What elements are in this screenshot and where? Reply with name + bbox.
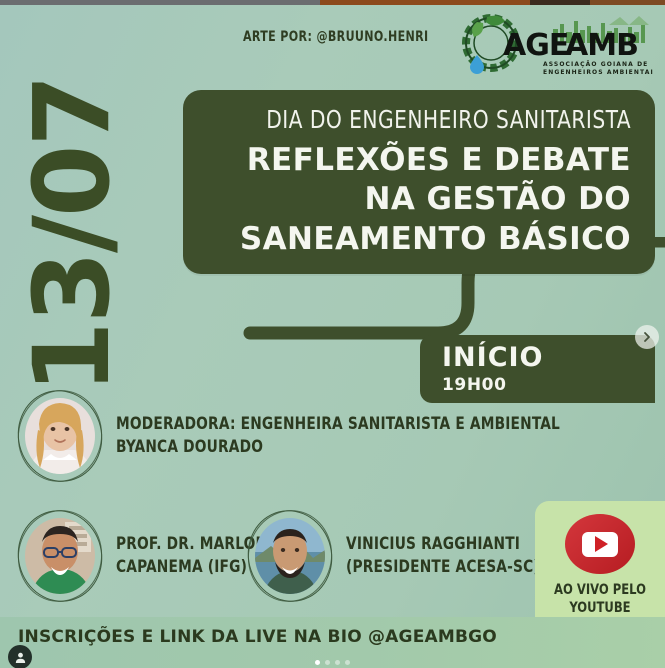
moderator-name-block: MODERADORA: ENGENHEIRA SANITARISTA E AMB… — [116, 413, 560, 459]
carousel-dot-2[interactable] — [325, 660, 330, 665]
speaker-2-photo — [255, 518, 325, 594]
speaker-1-line-2: CAPANEMA (IFG) — [116, 556, 267, 579]
headline-kicker: DIA DO ENGENHEIRO SANITARISTA — [249, 106, 631, 135]
person-icon — [14, 651, 27, 664]
carousel-dot-3[interactable] — [335, 660, 340, 665]
youtube-label: AO VIVO PELO YOUTUBE — [554, 582, 646, 617]
headline-line-1: REFLEXÕES E DEBATE — [207, 141, 631, 181]
carousel-dots — [0, 660, 665, 665]
speaker-2-name-block: VINICIUS RAGGHIANTI (PRESIDENTE ACESA-SC… — [346, 533, 540, 579]
svg-text:ENGENHEIROS AMBIENTAIS.: ENGENHEIROS AMBIENTAIS. — [543, 69, 653, 76]
browser-chrome-strip — [0, 0, 665, 5]
youtube-icon — [565, 514, 635, 574]
speaker-row-1: PROF. DR. MARLON CAPANEMA (IFG) — [18, 510, 284, 602]
headline-line-3: SANEAMENTO BÁSICO — [207, 220, 631, 260]
svg-text:AGE: AGE — [503, 28, 568, 63]
art-credit: ARTE POR: @BRUUNO.HENRI — [243, 29, 429, 45]
chrome-segment-image-a — [320, 0, 530, 5]
caption-text: INSCRIÇÕES E LINK DA LIVE NA BIO @AGEAMB… — [18, 627, 497, 647]
chevron-right-icon — [641, 331, 653, 343]
speaker-2-line-1: VINICIUS RAGGHIANTI — [346, 533, 540, 556]
moderator-avatar — [18, 390, 102, 482]
account-avatar-badge[interactable] — [8, 645, 32, 668]
start-label: INÍCIO — [442, 344, 655, 371]
speaker-2-line-2: (PRESIDENTE ACESA-SC) — [346, 556, 540, 579]
instagram-post-screen: 13/07 ARTE POR: @BRUUNO.HENRI — [0, 0, 665, 668]
svg-text:ASSOCIAÇÃO GOIANA DE: ASSOCIAÇÃO GOIANA DE — [543, 61, 648, 68]
chrome-segment-toolbar — [0, 0, 320, 5]
date-stamp: 13/07 — [20, 45, 124, 425]
moderator-row: MODERADORA: ENGENHEIRA SANITARISTA E AMB… — [18, 390, 609, 482]
carousel-dot-1[interactable] — [315, 660, 320, 665]
ageamb-logo: AGE AMB ASSOCIAÇÃO GOIANA DE ENGENHEIROS… — [457, 11, 653, 79]
moderator-line-1: MODERADORA: ENGENHEIRA SANITARISTA E AMB… — [116, 413, 560, 436]
caption-bar: INSCRIÇÕES E LINK DA LIVE NA BIO @AGEAMB… — [0, 617, 665, 668]
headline-card: DIA DO ENGENHEIRO SANITARISTA REFLEXÕES … — [183, 90, 655, 274]
carousel-dot-4[interactable] — [345, 660, 350, 665]
chrome-segment-image-b — [530, 0, 590, 5]
chrome-segment-image-c — [590, 0, 665, 5]
youtube-line-1: AO VIVO PELO — [554, 582, 646, 600]
youtube-live-card: AO VIVO PELO YOUTUBE — [535, 501, 665, 617]
moderator-photo — [25, 398, 95, 474]
speaker-1-name-block: PROF. DR. MARLON CAPANEMA (IFG) — [116, 533, 267, 579]
play-icon — [582, 532, 618, 557]
speaker-row-2: VINICIUS RAGGHIANTI (PRESIDENTE ACESA-SC… — [248, 510, 561, 602]
speaker-1-line-1: PROF. DR. MARLON — [116, 533, 267, 556]
speaker-1-avatar — [18, 510, 102, 602]
svg-text:AMB: AMB — [565, 28, 638, 63]
carousel-next-button[interactable] — [635, 325, 659, 349]
moderator-line-2: BYANCA DOURADO — [116, 436, 560, 459]
post-canvas: 13/07 ARTE POR: @BRUUNO.HENRI — [0, 5, 665, 617]
speaker-1-photo — [25, 518, 95, 594]
speaker-2-avatar — [248, 510, 332, 602]
headline-line-2: NA GESTÃO DO — [207, 180, 631, 220]
youtube-line-2: YOUTUBE — [554, 600, 646, 618]
